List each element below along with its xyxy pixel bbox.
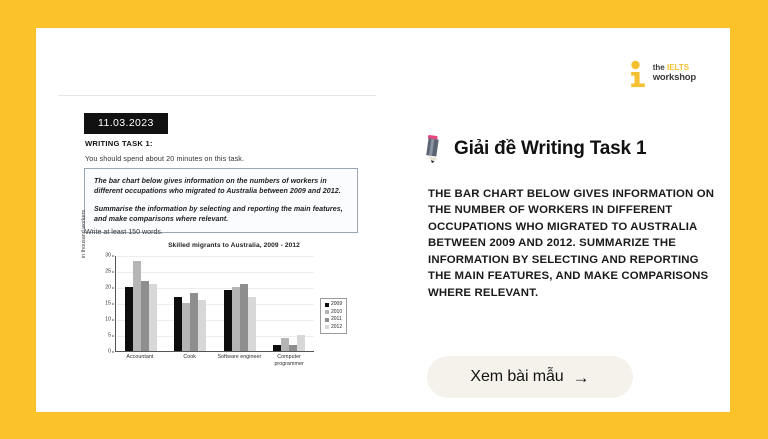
chart-y-axis-label: in thousand workers bbox=[81, 194, 87, 274]
chart-x-axis-labels: AccountantCookSoftware engineerComputer … bbox=[115, 354, 314, 380]
chart-legend-swatch bbox=[325, 310, 329, 314]
chart-bar bbox=[232, 287, 240, 351]
chart-bar-group bbox=[224, 256, 256, 351]
chart-bar bbox=[133, 261, 141, 351]
chart-legend-label: 2010 bbox=[331, 310, 342, 315]
brand-logo: the IELTS workshop bbox=[628, 60, 696, 88]
task-time-instruction: You should spend about 20 minutes on thi… bbox=[85, 154, 244, 163]
task-description-text: THE BAR CHART BELOW GIVES INFORMATION ON… bbox=[428, 186, 718, 301]
chart-bar bbox=[149, 284, 157, 351]
chart-x-label: Accountant bbox=[117, 354, 163, 380]
word-count-note: Write at least 150 words. bbox=[85, 228, 163, 236]
chart-y-tick-label: 30 bbox=[105, 253, 111, 258]
chart-legend-item: 2009 bbox=[325, 302, 342, 307]
view-sample-button[interactable]: Xem bài mẫu → bbox=[427, 356, 633, 398]
chart-legend-label: 2009 bbox=[331, 302, 342, 307]
promo-heading-row: Giải đề Writing Task 1 bbox=[425, 134, 646, 164]
date-badge: 11.03.2023 bbox=[84, 113, 168, 134]
chart-legend-label: 2011 bbox=[331, 317, 342, 322]
chart-plot bbox=[115, 256, 314, 352]
promo-panel: the IELTS workshop Giải đề Writing Task … bbox=[398, 38, 718, 402]
chart-y-tick-label: 15 bbox=[105, 301, 111, 306]
chart-bar bbox=[289, 345, 297, 351]
chart-y-tick-mark bbox=[112, 320, 114, 321]
chart-legend-swatch bbox=[325, 318, 329, 322]
logo-letter-i-icon bbox=[628, 60, 648, 88]
writing-task-label: WRITING TASK 1: bbox=[85, 139, 153, 148]
chart-y-tick-mark bbox=[112, 272, 114, 273]
bar-chart: Skilled migrants to Australia, 2009 - 20… bbox=[84, 242, 370, 392]
chart-bar bbox=[281, 338, 289, 351]
chart-bar bbox=[224, 290, 232, 351]
logo-wordmark: the IELTS workshop bbox=[653, 64, 696, 84]
white-card: 11.03.2023 WRITING TASK 1: You should sp… bbox=[36, 28, 730, 412]
chart-x-label: Computer programmer bbox=[266, 354, 312, 380]
logo-the-text: the bbox=[653, 63, 667, 72]
arrow-right-icon: → bbox=[573, 369, 590, 386]
prompt-paragraph-1: The bar chart below gives information on… bbox=[94, 176, 348, 197]
chart-y-tick-mark bbox=[112, 336, 114, 337]
chart-bar bbox=[297, 335, 305, 351]
chart-y-tick-label: 5 bbox=[108, 333, 111, 338]
chart-legend-swatch bbox=[325, 325, 329, 329]
chart-legend-item: 2011 bbox=[325, 317, 342, 322]
prompt-paragraph-2: Summarise the information by selecting a… bbox=[94, 204, 348, 225]
chart-bar bbox=[182, 303, 190, 351]
view-sample-label: Xem bài mẫu bbox=[470, 368, 563, 386]
chart-bar bbox=[141, 281, 149, 351]
chart-legend-item: 2012 bbox=[325, 325, 342, 330]
logo-line-2: workshop bbox=[653, 73, 696, 84]
chart-bar bbox=[125, 287, 133, 351]
chart-x-label: Cook bbox=[167, 354, 213, 380]
chart-y-tick-mark bbox=[112, 256, 114, 257]
chart-bar bbox=[273, 345, 281, 351]
chart-y-tick-label: 0 bbox=[108, 349, 111, 354]
chart-x-label: Software engineer bbox=[216, 354, 262, 380]
task-prompt-box: The bar chart below gives information on… bbox=[84, 168, 358, 233]
chart-plot-area: in thousand workers 051015202530 Account… bbox=[84, 256, 314, 368]
chart-bar bbox=[174, 297, 182, 351]
chart-bar bbox=[248, 297, 256, 351]
chart-bars bbox=[116, 256, 314, 351]
chart-legend-label: 2012 bbox=[331, 325, 342, 330]
chart-legend-swatch bbox=[325, 303, 329, 307]
yellow-frame: 11.03.2023 WRITING TASK 1: You should sp… bbox=[0, 0, 768, 439]
document-divider bbox=[58, 95, 376, 96]
chart-bar-group bbox=[174, 256, 206, 351]
chart-y-tick-mark bbox=[112, 352, 114, 353]
chart-bar-group bbox=[125, 256, 157, 351]
pencil-icon bbox=[425, 134, 443, 164]
chart-bar bbox=[190, 293, 198, 351]
chart-bar bbox=[198, 300, 206, 351]
chart-y-tick-label: 10 bbox=[105, 317, 111, 322]
page-title: Giải đề Writing Task 1 bbox=[454, 138, 646, 160]
chart-bar-group bbox=[273, 256, 305, 351]
chart-y-tick-mark bbox=[112, 304, 114, 305]
chart-y-tick-label: 25 bbox=[105, 269, 111, 274]
chart-y-tick-mark bbox=[112, 288, 114, 289]
chart-bar bbox=[240, 284, 248, 351]
chart-legend: 2009201020112012 bbox=[320, 298, 347, 334]
chart-y-tick-label: 20 bbox=[105, 285, 111, 290]
chart-legend-item: 2010 bbox=[325, 310, 342, 315]
chart-y-axis-ticks: 051015202530 bbox=[96, 256, 114, 352]
logo-ielts-text: IELTS bbox=[667, 63, 689, 72]
chart-title: Skilled migrants to Australia, 2009 - 20… bbox=[98, 242, 370, 249]
task-document-screenshot: 11.03.2023 WRITING TASK 1: You should sp… bbox=[58, 42, 388, 398]
